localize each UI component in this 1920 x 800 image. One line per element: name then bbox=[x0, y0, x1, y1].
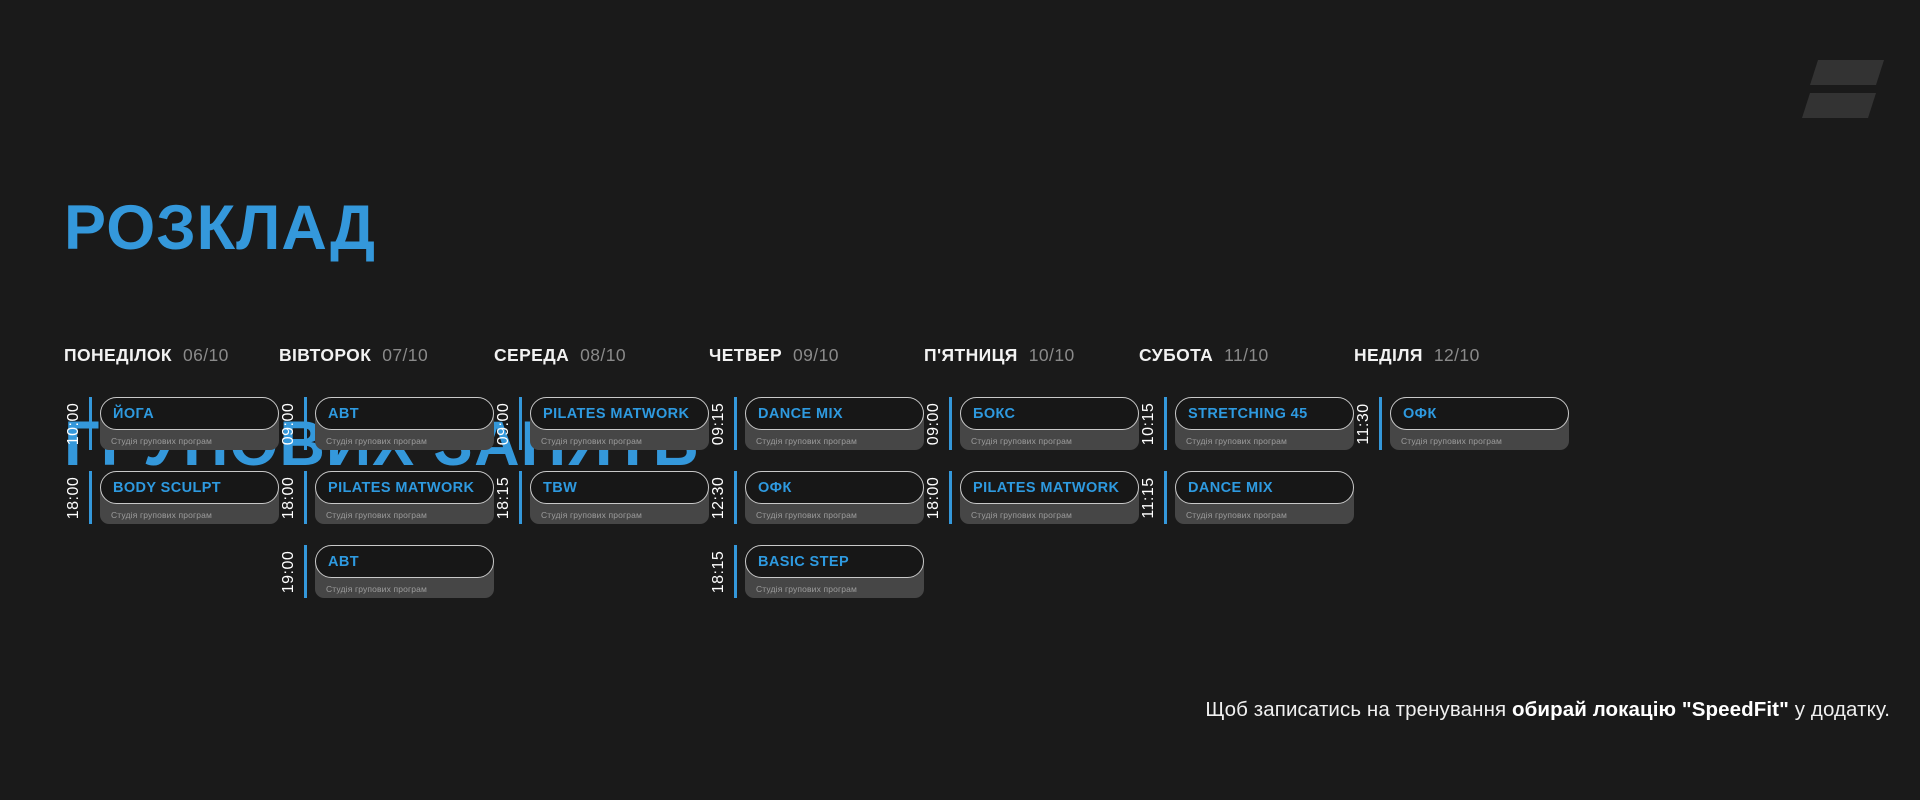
class-name-pill[interactable]: PILATES MATWORK bbox=[315, 471, 494, 504]
class-card-body: Студія групових програмSTRETCHING 45 bbox=[1175, 397, 1354, 450]
day-date: 11/10 bbox=[1224, 345, 1269, 366]
class-name-pill[interactable]: БОКС bbox=[960, 397, 1139, 430]
footer-prefix: Щоб записатись на тренування bbox=[1205, 698, 1512, 721]
class-name-label: ОФК bbox=[1403, 406, 1437, 422]
class-time: 18:00 bbox=[924, 471, 944, 524]
class-time-label: 12:30 bbox=[710, 476, 728, 519]
class-name-pill[interactable]: DANCE MIX bbox=[1175, 471, 1354, 504]
day-name: НЕДІЛЯ bbox=[1354, 345, 1423, 366]
class-card[interactable]: 18:00Студія групових програмBODY SCULPT bbox=[64, 471, 279, 524]
class-time-label: 18:00 bbox=[65, 476, 83, 519]
class-name-label: TBW bbox=[543, 480, 577, 496]
day-date: 09/10 bbox=[793, 345, 839, 366]
class-card-body: Студія групових програмABT bbox=[315, 545, 494, 598]
accent-bar bbox=[304, 397, 307, 450]
class-list: 10:00Студія групових програмЙОГА18:00Сту… bbox=[64, 397, 279, 524]
class-card-body: Студія групових програмЙОГА bbox=[100, 397, 279, 450]
class-card-body: Студія групових програмDANCE MIX bbox=[745, 397, 924, 450]
day-name: ПОНЕДІЛОК bbox=[64, 345, 172, 366]
day-column: СЕРЕДА08/1009:00Студія групових програмP… bbox=[494, 345, 709, 598]
day-column: ВІВТОРОК07/1009:00Студія групових програ… bbox=[279, 345, 494, 598]
class-card-body: Студія групових програмPILATES MATWORK bbox=[960, 471, 1139, 524]
class-list: 10:15Студія групових програмSTRETCHING 4… bbox=[1139, 397, 1354, 524]
week-grid: ПОНЕДІЛОК06/1010:00Студія групових прогр… bbox=[64, 345, 1864, 598]
class-name-label: PILATES MATWORK bbox=[973, 480, 1119, 496]
class-time: 09:00 bbox=[494, 397, 514, 450]
accent-bar bbox=[304, 545, 307, 598]
class-time: 18:00 bbox=[279, 471, 299, 524]
footer-highlight: обирай локацію "SpeedFit" bbox=[1512, 698, 1789, 721]
day-header: ПОНЕДІЛОК06/10 bbox=[64, 345, 279, 371]
class-name-pill[interactable]: STRETCHING 45 bbox=[1175, 397, 1354, 430]
day-column: ПОНЕДІЛОК06/1010:00Студія групових прогр… bbox=[64, 345, 279, 598]
accent-bar bbox=[89, 397, 92, 450]
class-location-label: Студія групових програм bbox=[111, 510, 212, 520]
class-time: 10:00 bbox=[64, 397, 84, 450]
day-column: СУБОТА11/1010:15Студія групових програмS… bbox=[1139, 345, 1354, 598]
accent-bar bbox=[734, 471, 737, 524]
class-card-body: Студія групових програмОФК bbox=[745, 471, 924, 524]
class-card[interactable]: 09:15Студія групових програмDANCE MIX bbox=[709, 397, 924, 450]
class-location-label: Студія групових програм bbox=[1401, 436, 1502, 446]
day-name: ЧЕТВЕР bbox=[709, 345, 782, 366]
accent-bar bbox=[519, 471, 522, 524]
class-location-label: Студія групових програм bbox=[756, 584, 857, 594]
class-card[interactable]: 12:30Студія групових програмОФК bbox=[709, 471, 924, 524]
class-card-body: Студія групових програмBASIC STEP bbox=[745, 545, 924, 598]
class-card-body: Студія групових програмОФК bbox=[1390, 397, 1569, 450]
class-list: 09:00Студія групових програмPILATES MATW… bbox=[494, 397, 709, 524]
class-name-label: PILATES MATWORK bbox=[543, 406, 689, 422]
class-card[interactable]: 10:15Студія групових програмSTRETCHING 4… bbox=[1139, 397, 1354, 450]
day-header: ВІВТОРОК07/10 bbox=[279, 345, 494, 371]
class-name-pill[interactable]: PILATES MATWORK bbox=[960, 471, 1139, 504]
class-location-label: Студія групових програм bbox=[756, 510, 857, 520]
class-card[interactable]: 18:15Студія групових програмTBW bbox=[494, 471, 709, 524]
class-list: 09:00Студія групових програмABT18:00Студ… bbox=[279, 397, 494, 598]
class-location-label: Студія групових програм bbox=[971, 510, 1072, 520]
class-card-body: Студія групових програмTBW bbox=[530, 471, 709, 524]
class-time-label: 19:00 bbox=[280, 550, 298, 593]
class-location-label: Студія групових програм bbox=[326, 436, 427, 446]
class-time-label: 11:15 bbox=[1140, 477, 1158, 518]
class-time-label: 18:15 bbox=[710, 550, 728, 593]
day-date: 10/10 bbox=[1029, 345, 1075, 366]
class-time-label: 18:15 bbox=[495, 476, 513, 519]
class-name-pill[interactable]: PILATES MATWORK bbox=[530, 397, 709, 430]
class-location-label: Студія групових програм bbox=[541, 510, 642, 520]
class-name-pill[interactable]: ОФК bbox=[745, 471, 924, 504]
class-card-body: Студія групових програмБОКС bbox=[960, 397, 1139, 450]
class-name-pill[interactable]: ABT bbox=[315, 397, 494, 430]
class-time: 09:15 bbox=[709, 397, 729, 450]
class-name-label: ABT bbox=[328, 554, 359, 570]
class-time-label: 10:00 bbox=[65, 402, 83, 445]
class-card[interactable]: 18:15Студія групових програмBASIC STEP bbox=[709, 545, 924, 598]
accent-bar bbox=[1164, 397, 1167, 450]
class-time: 09:00 bbox=[279, 397, 299, 450]
class-card[interactable]: 18:00Студія групових програмPILATES MATW… bbox=[924, 471, 1139, 524]
class-card[interactable]: 09:00Студія групових програмБОКС bbox=[924, 397, 1139, 450]
class-name-pill[interactable]: TBW bbox=[530, 471, 709, 504]
class-name-label: PILATES MATWORK bbox=[328, 480, 474, 496]
class-time-label: 18:00 bbox=[925, 476, 943, 519]
day-name: СЕРЕДА bbox=[494, 345, 569, 366]
class-time: 09:00 bbox=[924, 397, 944, 450]
class-name-label: DANCE MIX bbox=[758, 406, 843, 422]
class-card-body: Студія групових програмPILATES MATWORK bbox=[530, 397, 709, 450]
class-name-label: BODY SCULPT bbox=[113, 480, 221, 496]
class-name-label: ЙОГА bbox=[113, 406, 154, 422]
footer-suffix: у додатку. bbox=[1789, 698, 1890, 721]
class-time: 18:00 bbox=[64, 471, 84, 524]
day-name: ВІВТОРОК bbox=[279, 345, 371, 366]
class-list: 09:15Студія групових програмDANCE MIX12:… bbox=[709, 397, 924, 598]
accent-bar bbox=[949, 397, 952, 450]
class-card[interactable]: 11:15Студія групових програмDANCE MIX bbox=[1139, 471, 1354, 524]
class-time-label: 10:15 bbox=[1140, 402, 1158, 445]
day-header: НЕДІЛЯ12/10 bbox=[1354, 345, 1569, 371]
class-name-pill[interactable]: DANCE MIX bbox=[745, 397, 924, 430]
class-list: 09:00Студія групових програмБОКС18:00Сту… bbox=[924, 397, 1139, 524]
day-name: СУБОТА bbox=[1139, 345, 1213, 366]
day-column: П'ЯТНИЦЯ10/1009:00Студія групових програ… bbox=[924, 345, 1139, 598]
class-card[interactable]: 09:00Студія групових програмABT bbox=[279, 397, 494, 450]
day-date: 07/10 bbox=[382, 345, 428, 366]
class-time: 11:30 bbox=[1354, 397, 1374, 450]
class-name-pill[interactable]: ОФК bbox=[1390, 397, 1569, 430]
class-card[interactable]: 18:00Студія групових програмPILATES MATW… bbox=[279, 471, 494, 524]
class-time-label: 11:30 bbox=[1355, 403, 1373, 444]
class-card-body: Студія групових програмBODY SCULPT bbox=[100, 471, 279, 524]
class-card-body: Студія групових програмDANCE MIX bbox=[1175, 471, 1354, 524]
class-location-label: Студія групових програм bbox=[1186, 510, 1287, 520]
class-time: 18:15 bbox=[494, 471, 514, 524]
accent-bar bbox=[89, 471, 92, 524]
day-column: ЧЕТВЕР09/1009:15Студія групових програмD… bbox=[709, 345, 924, 598]
class-time-label: 09:00 bbox=[495, 402, 513, 445]
class-time: 10:15 bbox=[1139, 397, 1159, 450]
class-location-label: Студія групових програм bbox=[326, 584, 427, 594]
class-card[interactable]: 10:00Студія групових програмЙОГА bbox=[64, 397, 279, 450]
day-date: 06/10 bbox=[183, 345, 229, 366]
class-list: 11:30Студія групових програмОФК bbox=[1354, 397, 1569, 450]
class-name-pill[interactable]: BODY SCULPT bbox=[100, 471, 279, 504]
accent-bar bbox=[949, 471, 952, 524]
class-name-label: DANCE MIX bbox=[1188, 480, 1273, 496]
class-time-label: 18:00 bbox=[280, 476, 298, 519]
class-name-label: STRETCHING 45 bbox=[1188, 406, 1308, 422]
class-time: 19:00 bbox=[279, 545, 299, 598]
class-time: 11:15 bbox=[1139, 471, 1159, 524]
accent-bar bbox=[734, 397, 737, 450]
class-name-pill[interactable]: BASIC STEP bbox=[745, 545, 924, 578]
day-header: СЕРЕДА08/10 bbox=[494, 345, 709, 371]
class-name-pill[interactable]: ABT bbox=[315, 545, 494, 578]
accent-bar bbox=[304, 471, 307, 524]
schedule-poster: РОЗКЛАД ГРУПОВИХ ЗАНЯТЬ ПОНЕДІЛОК06/1010… bbox=[0, 0, 1920, 800]
class-name-label: ОФК bbox=[758, 480, 792, 496]
page-title-line-1: РОЗКЛАД bbox=[64, 192, 699, 264]
day-header: СУБОТА11/10 bbox=[1139, 345, 1354, 371]
class-location-label: Студія групових програм bbox=[541, 436, 642, 446]
class-card[interactable]: 11:30Студія групових програмОФК bbox=[1354, 397, 1569, 450]
accent-bar bbox=[1379, 397, 1382, 450]
class-name-label: ABT bbox=[328, 406, 359, 422]
class-card[interactable]: 19:00Студія групових програмABT bbox=[279, 545, 494, 598]
class-time: 12:30 bbox=[709, 471, 729, 524]
accent-bar bbox=[519, 397, 522, 450]
day-date: 08/10 bbox=[580, 345, 626, 366]
class-time: 18:15 bbox=[709, 545, 729, 598]
footer-note: Щоб записатись на тренування обирай лока… bbox=[1205, 698, 1890, 722]
day-header: ЧЕТВЕР09/10 bbox=[709, 345, 924, 371]
class-name-pill[interactable]: ЙОГА bbox=[100, 397, 279, 430]
accent-bar bbox=[1164, 471, 1167, 524]
day-column: НЕДІЛЯ12/1011:30Студія групових програмО… bbox=[1354, 345, 1569, 598]
class-time-label: 09:15 bbox=[710, 402, 728, 445]
class-card-body: Студія групових програмABT bbox=[315, 397, 494, 450]
class-name-label: BASIC STEP bbox=[758, 554, 849, 570]
class-location-label: Студія групових програм bbox=[111, 436, 212, 446]
class-card-body: Студія групових програмPILATES MATWORK bbox=[315, 471, 494, 524]
class-time-label: 09:00 bbox=[280, 402, 298, 445]
speedfit-logo-icon bbox=[1792, 58, 1890, 120]
day-name: П'ЯТНИЦЯ bbox=[924, 345, 1018, 366]
class-location-label: Студія групових програм bbox=[1186, 436, 1287, 446]
class-location-label: Студія групових програм bbox=[971, 436, 1072, 446]
class-location-label: Студія групових програм bbox=[756, 436, 857, 446]
day-date: 12/10 bbox=[1434, 345, 1480, 366]
class-location-label: Студія групових програм bbox=[326, 510, 427, 520]
class-name-label: БОКС bbox=[973, 406, 1015, 422]
day-header: П'ЯТНИЦЯ10/10 bbox=[924, 345, 1139, 371]
class-card[interactable]: 09:00Студія групових програмPILATES MATW… bbox=[494, 397, 709, 450]
class-time-label: 09:00 bbox=[925, 402, 943, 445]
accent-bar bbox=[734, 545, 737, 598]
